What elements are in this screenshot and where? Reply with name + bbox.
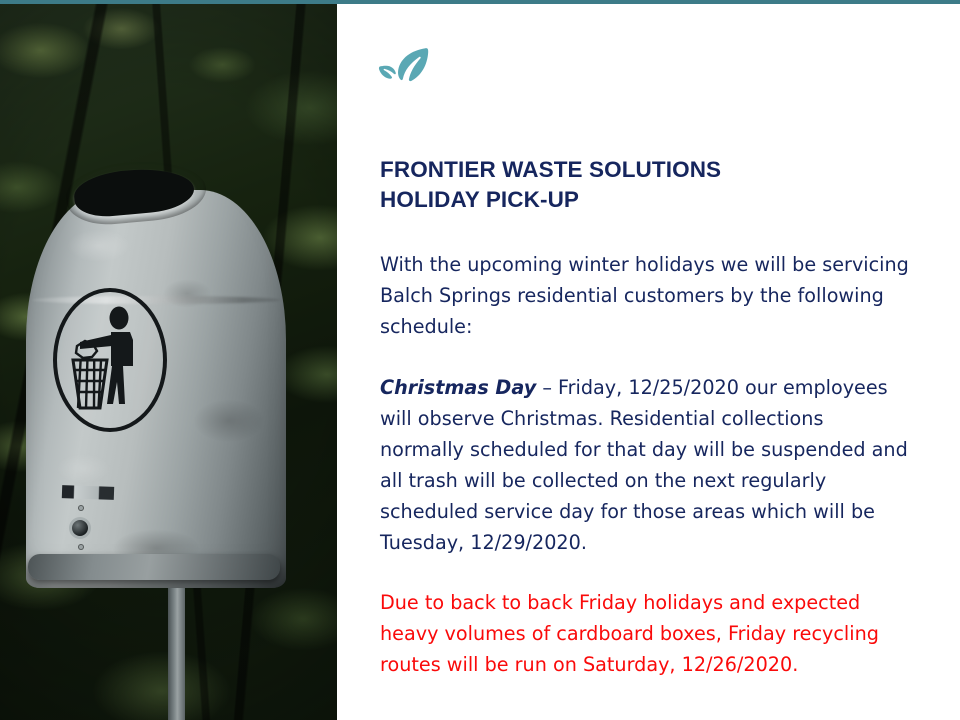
- paragraph-intro: With the upcoming winter holidays we wil…: [380, 249, 910, 342]
- paragraph-friday-recycling: Due to back to back Friday holidays and …: [380, 587, 910, 680]
- bin-lock: [72, 520, 88, 536]
- spacer: [380, 215, 910, 249]
- slide-canvas: FRONTIER WASTE SOLUTIONS HOLIDAY PICK-UP…: [0, 0, 960, 720]
- bin-support-post: [168, 572, 185, 720]
- headline-line-1: FRONTIER WASTE SOLUTIONS: [380, 157, 721, 182]
- litter-bin: [26, 138, 286, 588]
- paragraph-christmas-day: Christmas Day – Friday, 12/25/2020 our e…: [380, 372, 910, 558]
- christmas-day-lead-in: Christmas Day: [380, 376, 536, 399]
- copy-block: FRONTIER WASTE SOLUTIONS HOLIDAY PICK-UP…: [380, 155, 910, 680]
- leaf-sprout-icon: [378, 44, 434, 100]
- headline-line-2: HOLIDAY PICK-UP: [380, 187, 579, 212]
- page-title: FRONTIER WASTE SOLUTIONS HOLIDAY PICK-UP: [380, 155, 910, 215]
- bin-screw-upper: [78, 505, 84, 511]
- content-panel: FRONTIER WASTE SOLUTIONS HOLIDAY PICK-UP…: [337, 0, 960, 720]
- spacer: [380, 342, 910, 372]
- christmas-day-text: Friday, 12/25/2020 our employees will ob…: [380, 376, 908, 554]
- spacer: [380, 558, 910, 587]
- christmas-day-dash: –: [536, 376, 558, 399]
- bin-screw-lower: [78, 544, 84, 550]
- top-accent-rule: [0, 0, 960, 4]
- bin-label-sticker: [62, 485, 114, 500]
- bin-base-ring: [28, 554, 280, 580]
- photo-panel: [0, 0, 337, 720]
- bin-seam: [32, 296, 280, 304]
- tidyman-litter-icon: [53, 288, 167, 432]
